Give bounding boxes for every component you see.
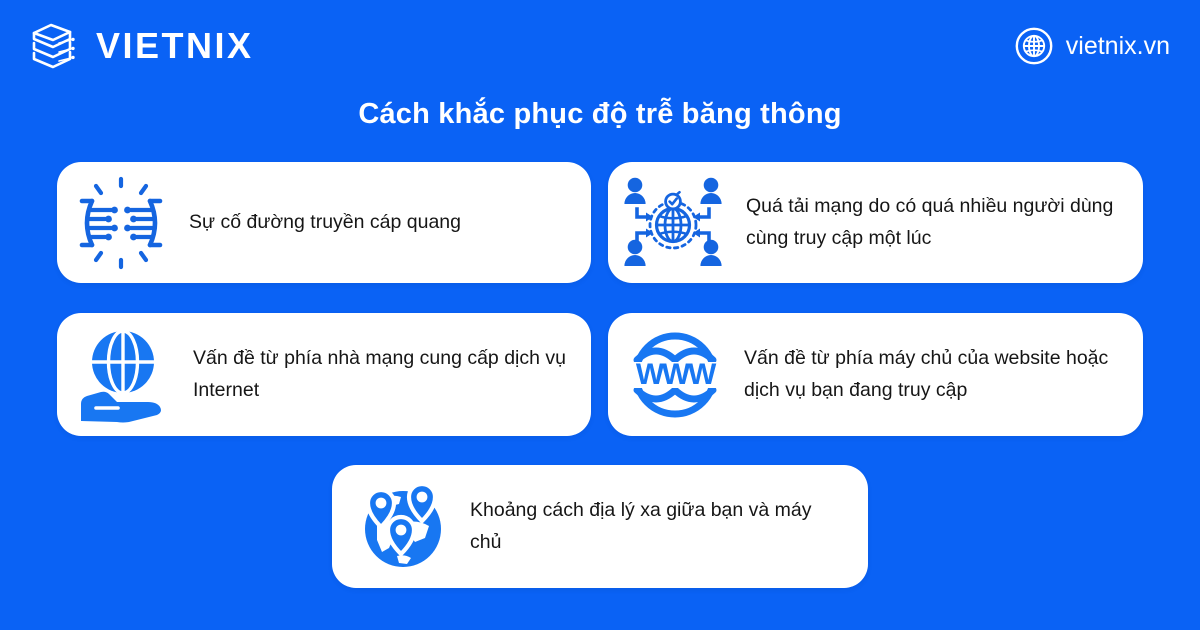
broken-fiber-optic-cable-icon [57,173,185,273]
brand-logo: VIETNIX [26,18,254,74]
site-url-badge[interactable]: vietnix.vn [1015,27,1170,65]
globe-in-hand-icon [57,325,189,425]
page-title: Cách khắc phục độ trễ băng thông [0,98,1200,131]
earth-location-pins-icon [332,477,460,577]
info-card: Quá tải mạng do có quá nhiều người dùng … [608,162,1143,283]
site-url-label: vietnix.vn [1066,34,1170,59]
stacked-layers-icon [26,18,82,74]
network-users-globe-icon [608,173,738,273]
info-card: WWW Vấn đề từ phía máy chủ của website h… [608,313,1143,436]
svg-text:WWW: WWW [636,358,717,391]
info-card: Khoảng cách địa lý xa giữa bạn và máy ch… [332,465,868,588]
globe-icon [1015,27,1053,65]
page-header: VIETNIX vietnix.vn [0,0,1200,92]
info-card-text: Vấn đề từ phía nhà mạng cung cấp dịch vụ… [189,343,591,406]
info-card-text: Vấn đề từ phía máy chủ của website hoặc … [742,343,1143,406]
www-globe-icon: WWW [608,325,742,425]
info-card-text: Sự cố đường truyền cáp quang [185,207,591,239]
info-card: Sự cố đường truyền cáp quang [57,162,591,283]
info-card: Vấn đề từ phía nhà mạng cung cấp dịch vụ… [57,313,591,436]
brand-name: VIETNIX [96,28,254,64]
info-card-text: Quá tải mạng do có quá nhiều người dùng … [738,191,1143,254]
info-card-text: Khoảng cách địa lý xa giữa bạn và máy ch… [460,495,868,558]
